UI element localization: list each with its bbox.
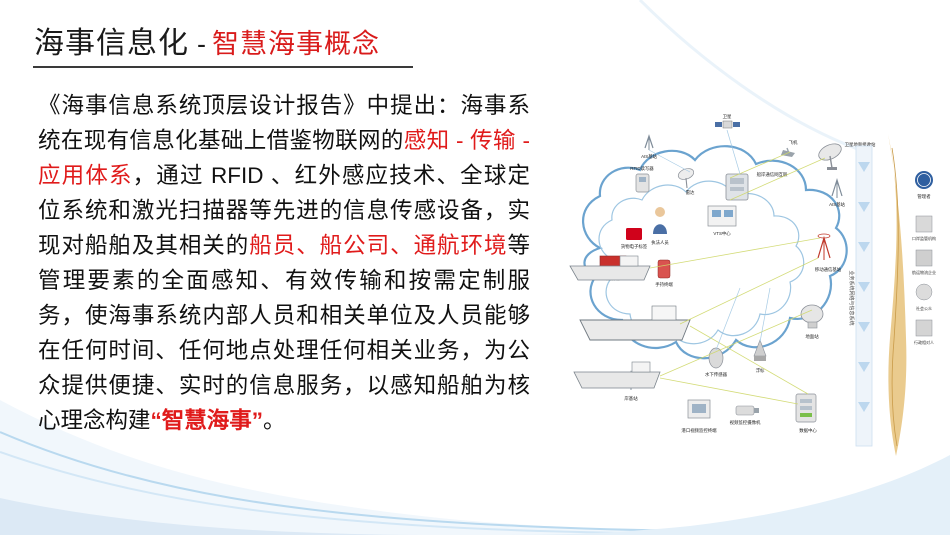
label-underwater-sensor: 水下传感器 [705,371,728,378]
label-cargo-tag: 货物电子标签 [621,243,648,250]
label-radar: 雷达 [686,189,695,196]
label-panel-title: 管理者 [917,193,931,200]
cargo-tag-node: 货物电子标签 [621,228,648,250]
label-inspector: 执法人员 [651,239,669,246]
label-ship-shore-comm: 船岸通信网互联 [757,171,788,178]
inspector-node: 执法人员 [651,207,669,246]
port-monitor-node: 港口视频监控终端 [681,400,717,434]
label-vertical-caption: 业务系统网络与信息系统 [848,270,855,325]
label-data-center: 数据中心 [799,427,817,434]
label-port-monitor: 港口视频监控终端 [681,427,717,434]
camera-node: 视频监控摄像机 [730,406,761,426]
title-divider [33,66,413,68]
label-panel-item-0: 口岸监管机构 [912,235,936,241]
ship-b [580,306,690,340]
label-panel-item-3: 行政相对人 [914,339,934,345]
title-separator: - [197,29,206,60]
rfid-reader-node: RFID读写器 [630,165,654,192]
label-vts-center: VTS中心 [713,230,731,237]
stakeholder-panel: 管理者 口岸监管机构 航运物流企业 社会公众 行政相对人 [912,171,936,345]
label-handheld: 手持终端 [655,281,673,288]
label-shore-base-station: 岸基站 [624,395,638,402]
body-segment-5: “智慧海事” [151,408,264,433]
label-mobile-comm-base: 移动通信基站 [815,266,842,273]
label-ground-station: 地面站 [805,333,819,340]
title-main: 海事信息化 [34,18,189,62]
label-satellite: 卫星 [723,114,732,119]
body-segment-6: 。 [263,408,286,433]
mobile-comm-base-node: 移动通信基站 [815,234,842,273]
ais-base-top-node: AIS基站 [641,136,657,160]
body-segment-3: 船员、船公司、通航环境 [249,233,507,258]
radar-node: 雷达 [677,167,695,196]
title-subtitle: 智慧海事概念 [212,22,380,61]
body-paragraph: 《海事信息系统顶层设计报告》中提出：海事系统在现有信息化基础上借鉴物联网的感知 … [38,88,530,438]
label-aircraft: 飞机 [789,139,798,146]
ship-c [574,362,660,388]
aircraft-node: 飞机 [781,139,798,157]
label-ais-base: AIS基站 [829,201,845,208]
transport-band: 业务系统网络与信息系统 [848,146,872,446]
label-panel-item-1: 航运物流企业 [912,269,936,275]
slide: 海事信息化 - 智慧海事概念 《海事信息系统顶层设计报告》中提出：海事系统在现有… [0,0,950,535]
satellite-node: 卫星 [715,114,740,128]
golden-ribbon [888,134,906,456]
vts-center-node: VTS中心 [708,206,736,237]
data-center-node: 数据中心 [796,394,817,434]
page-title: 海事信息化 - 智慧海事概念 [34,18,380,62]
label-ais-base-top: AIS基站 [641,153,657,160]
label-camera: 视频监控摄像机 [730,419,761,426]
ais-base-node: AIS基站 [829,180,845,208]
smart-maritime-diagram: 卫星 飞机 AIS基站 卫星地面接收站 [540,88,940,488]
label-rfid-reader: RFID读写器 [630,165,654,172]
body-segment-4: 等管理要素的全面感知、有效传输和按需定制服务，使海事系统内部人员和相关单位及人员… [38,233,530,433]
label-panel-item-2: 社会公众 [916,305,932,311]
